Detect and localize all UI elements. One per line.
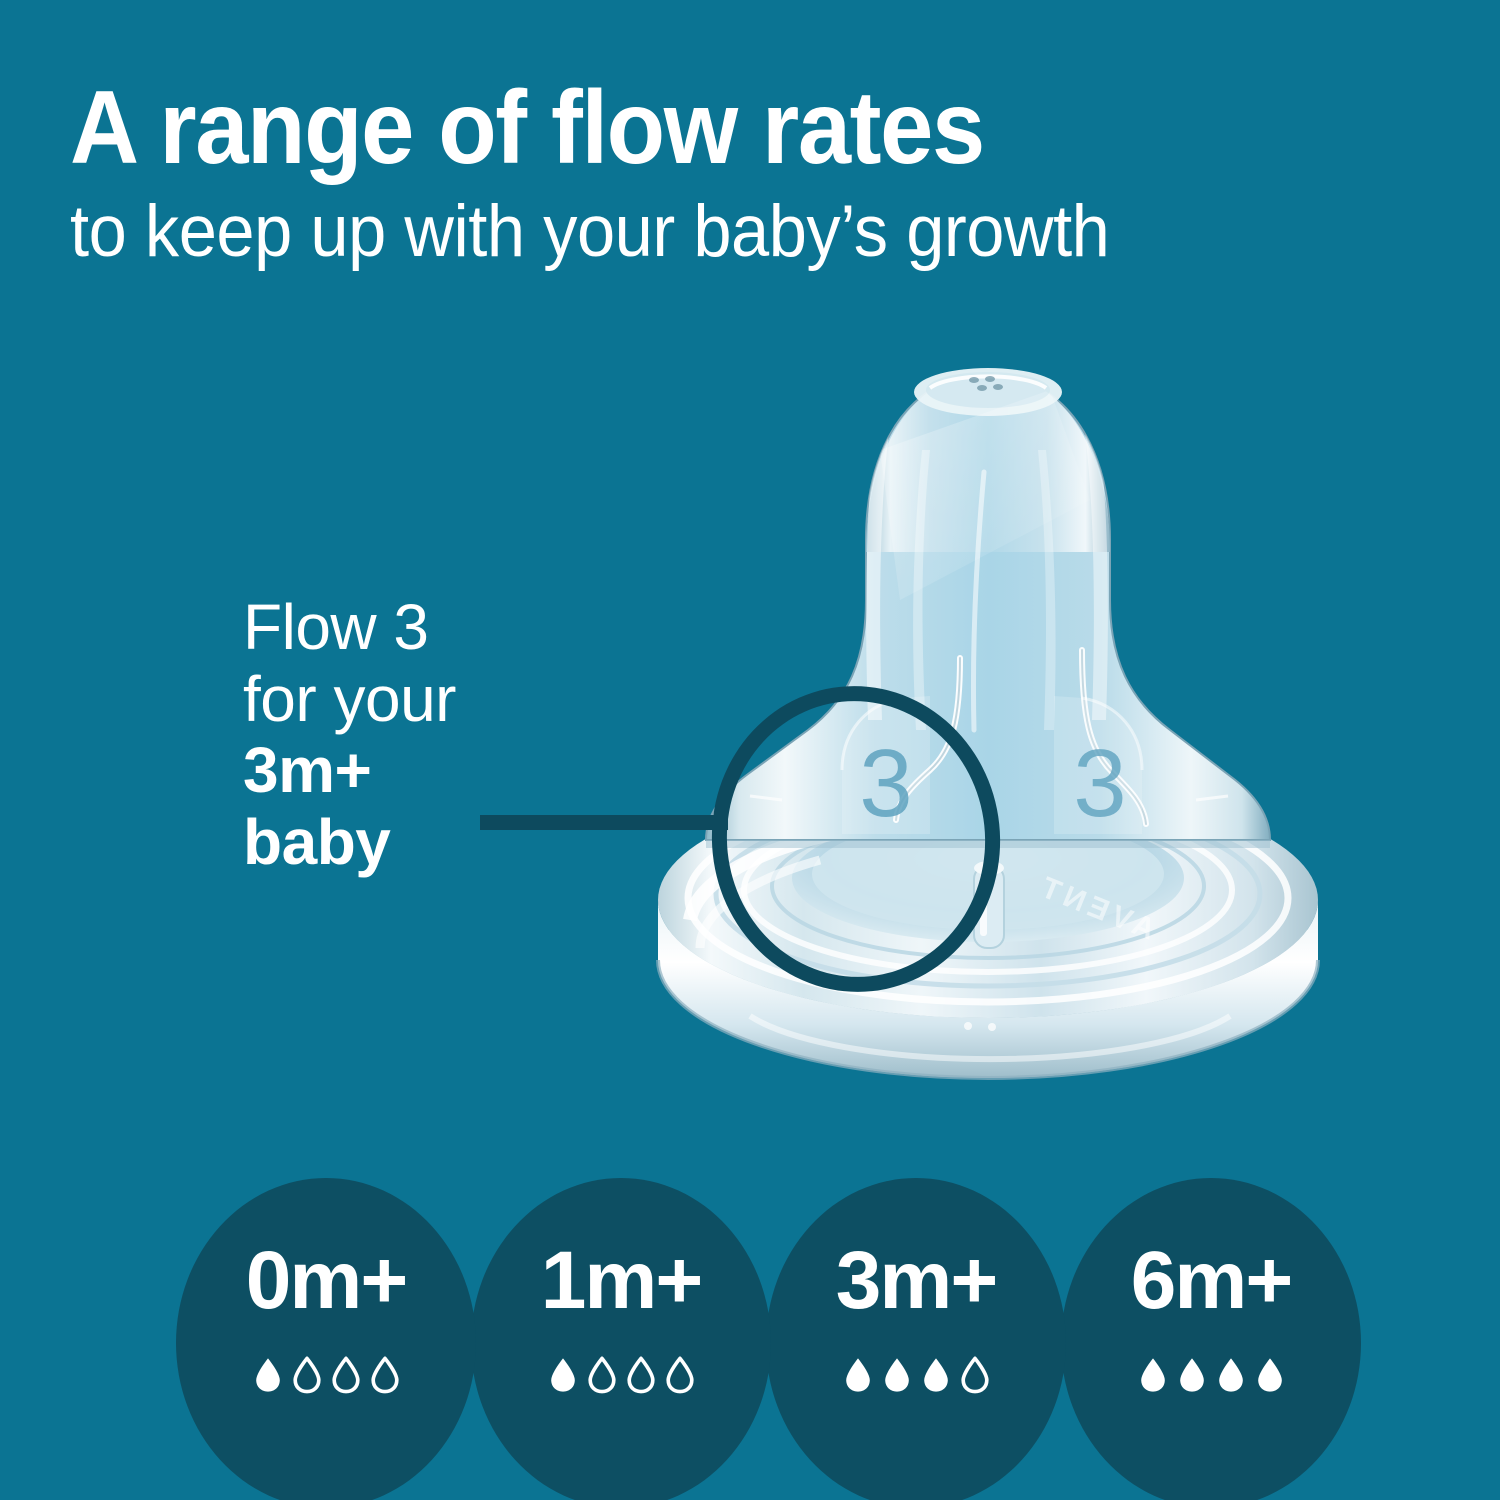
age-badge-row: 0m+1m+3m+6m+ [176, 1178, 1361, 1500]
badge-0m[interactable]: 0m+ [176, 1178, 476, 1500]
badge-age-label: 1m+ [541, 1240, 701, 1322]
droplet-outline-icon [626, 1356, 656, 1395]
droplet-outline-icon [587, 1356, 617, 1395]
droplet-filled-icon [1138, 1356, 1168, 1395]
callout-line-1: Flow 3 [243, 592, 663, 664]
droplet-filled-icon [548, 1356, 578, 1395]
droplet-filled-icon [1177, 1356, 1207, 1395]
flow-rate-droplets [843, 1356, 990, 1395]
droplet-outline-icon [331, 1356, 361, 1395]
droplet-filled-icon [1216, 1356, 1246, 1395]
badge-6m[interactable]: 6m+ [1061, 1178, 1361, 1500]
droplet-filled-icon [882, 1356, 912, 1395]
droplet-filled-icon [253, 1356, 283, 1395]
headline-block: A range of flow rates to keep up with yo… [70, 78, 1450, 271]
droplet-outline-icon [370, 1356, 400, 1395]
flow-number-right: 3 [1073, 730, 1126, 837]
droplet-outline-icon [960, 1356, 990, 1395]
callout-line-2: for your [243, 664, 663, 736]
droplet-outline-icon [665, 1356, 695, 1395]
badge-age-label: 6m+ [1131, 1240, 1291, 1322]
callout-line-4: baby [243, 807, 663, 879]
marketing-banner: A range of flow rates to keep up with yo… [0, 0, 1500, 1500]
droplet-filled-icon [843, 1356, 873, 1395]
baby-bottle-teat-image: AVENT [630, 300, 1370, 1100]
flow-rate-droplets [1138, 1356, 1285, 1395]
flow-rate-droplets [548, 1356, 695, 1395]
callout-line-3: 3m+ [243, 735, 663, 807]
badge-1m[interactable]: 1m+ [471, 1178, 771, 1500]
flow-rate-droplets [253, 1356, 400, 1395]
page-subtitle: to keep up with your baby’s growth [70, 194, 1367, 271]
badge-3m[interactable]: 3m+ [766, 1178, 1066, 1500]
droplet-filled-icon [921, 1356, 951, 1395]
badge-age-label: 3m+ [836, 1240, 996, 1322]
droplet-outline-icon [292, 1356, 322, 1395]
droplet-filled-icon [1255, 1356, 1285, 1395]
page-title: A range of flow rates [70, 78, 1340, 180]
badge-age-label: 0m+ [246, 1240, 406, 1322]
flow-callout: Flow 3 for your 3m+ baby [243, 592, 663, 879]
